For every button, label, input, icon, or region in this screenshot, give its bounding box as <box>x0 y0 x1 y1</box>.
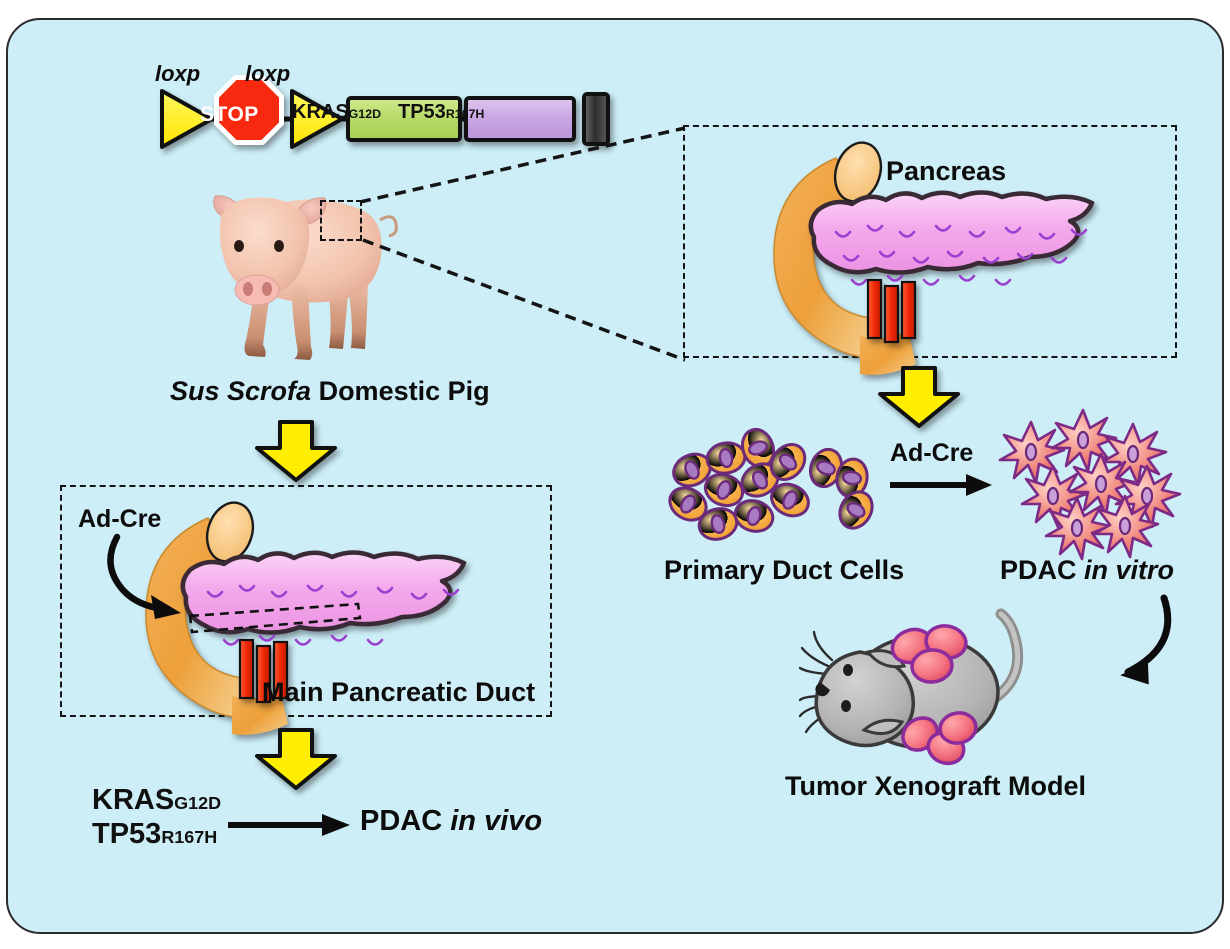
duct-cell-group <box>664 425 878 543</box>
block-arrow-pig-to-duct <box>253 420 339 482</box>
kras-name: KRAS <box>292 101 349 124</box>
pancreatic-vessels <box>868 280 915 342</box>
duct-panel-caption: Main Pancreatic Duct <box>262 678 535 706</box>
callout-lines <box>355 120 695 370</box>
loxp-right-label: loxp <box>245 62 290 85</box>
ad-cre-label-invivo: Ad-Cre <box>78 506 161 532</box>
primary-duct-cells-illustration <box>660 418 890 558</box>
pdac-invivo-caption: PDAC in vivo <box>360 806 542 836</box>
pdac-invitro-italic: in vitro <box>1084 555 1174 585</box>
primary-duct-cells-caption: Primary Duct Cells <box>664 556 904 584</box>
block-arrow-duct-to-invivo <box>253 728 339 790</box>
mouse-illustration <box>800 608 1070 788</box>
pig-species: Sus Scrofa <box>170 376 311 406</box>
figure-canvas: loxp loxp STOP KRASG12D TP53R167H <box>0 0 1230 949</box>
loxp-left-label: loxp <box>155 62 200 85</box>
invivo-tp53-label: TP53R167H <box>92 818 217 851</box>
pdac-invitro-illustration <box>995 410 1185 560</box>
pdac-invivo-plain: PDAC <box>360 805 450 837</box>
invivo-kras-label: KRASG12D <box>92 784 221 817</box>
pig-caption-rest: Domestic Pig <box>311 376 490 406</box>
invivo-tp53-name: TP53 <box>92 818 161 851</box>
pdac-cell-cluster <box>1000 410 1180 559</box>
invivo-kras-name: KRAS <box>92 784 174 817</box>
stop-label: STOP <box>200 104 259 126</box>
arrow-pdac-to-mouse <box>1060 592 1180 702</box>
pig-caption: Sus Scrofa Domestic Pig <box>170 377 490 405</box>
mouse-caption: Tumor Xenograft Model <box>785 772 1086 800</box>
pancreas-label: Pancreas <box>886 157 1006 185</box>
ad-cre-arrow-invivo <box>105 533 235 623</box>
arrow-genotype-to-pdac <box>226 812 352 838</box>
ad-cre-label-invitro: Ad-Cre <box>890 440 973 466</box>
pdac-invitro-plain: PDAC <box>1000 555 1084 585</box>
pdac-invitro-caption: PDAC in vitro <box>1000 556 1174 584</box>
ad-cre-arrow-invitro <box>888 472 994 498</box>
pdac-invivo-italic: in vivo <box>450 805 542 837</box>
